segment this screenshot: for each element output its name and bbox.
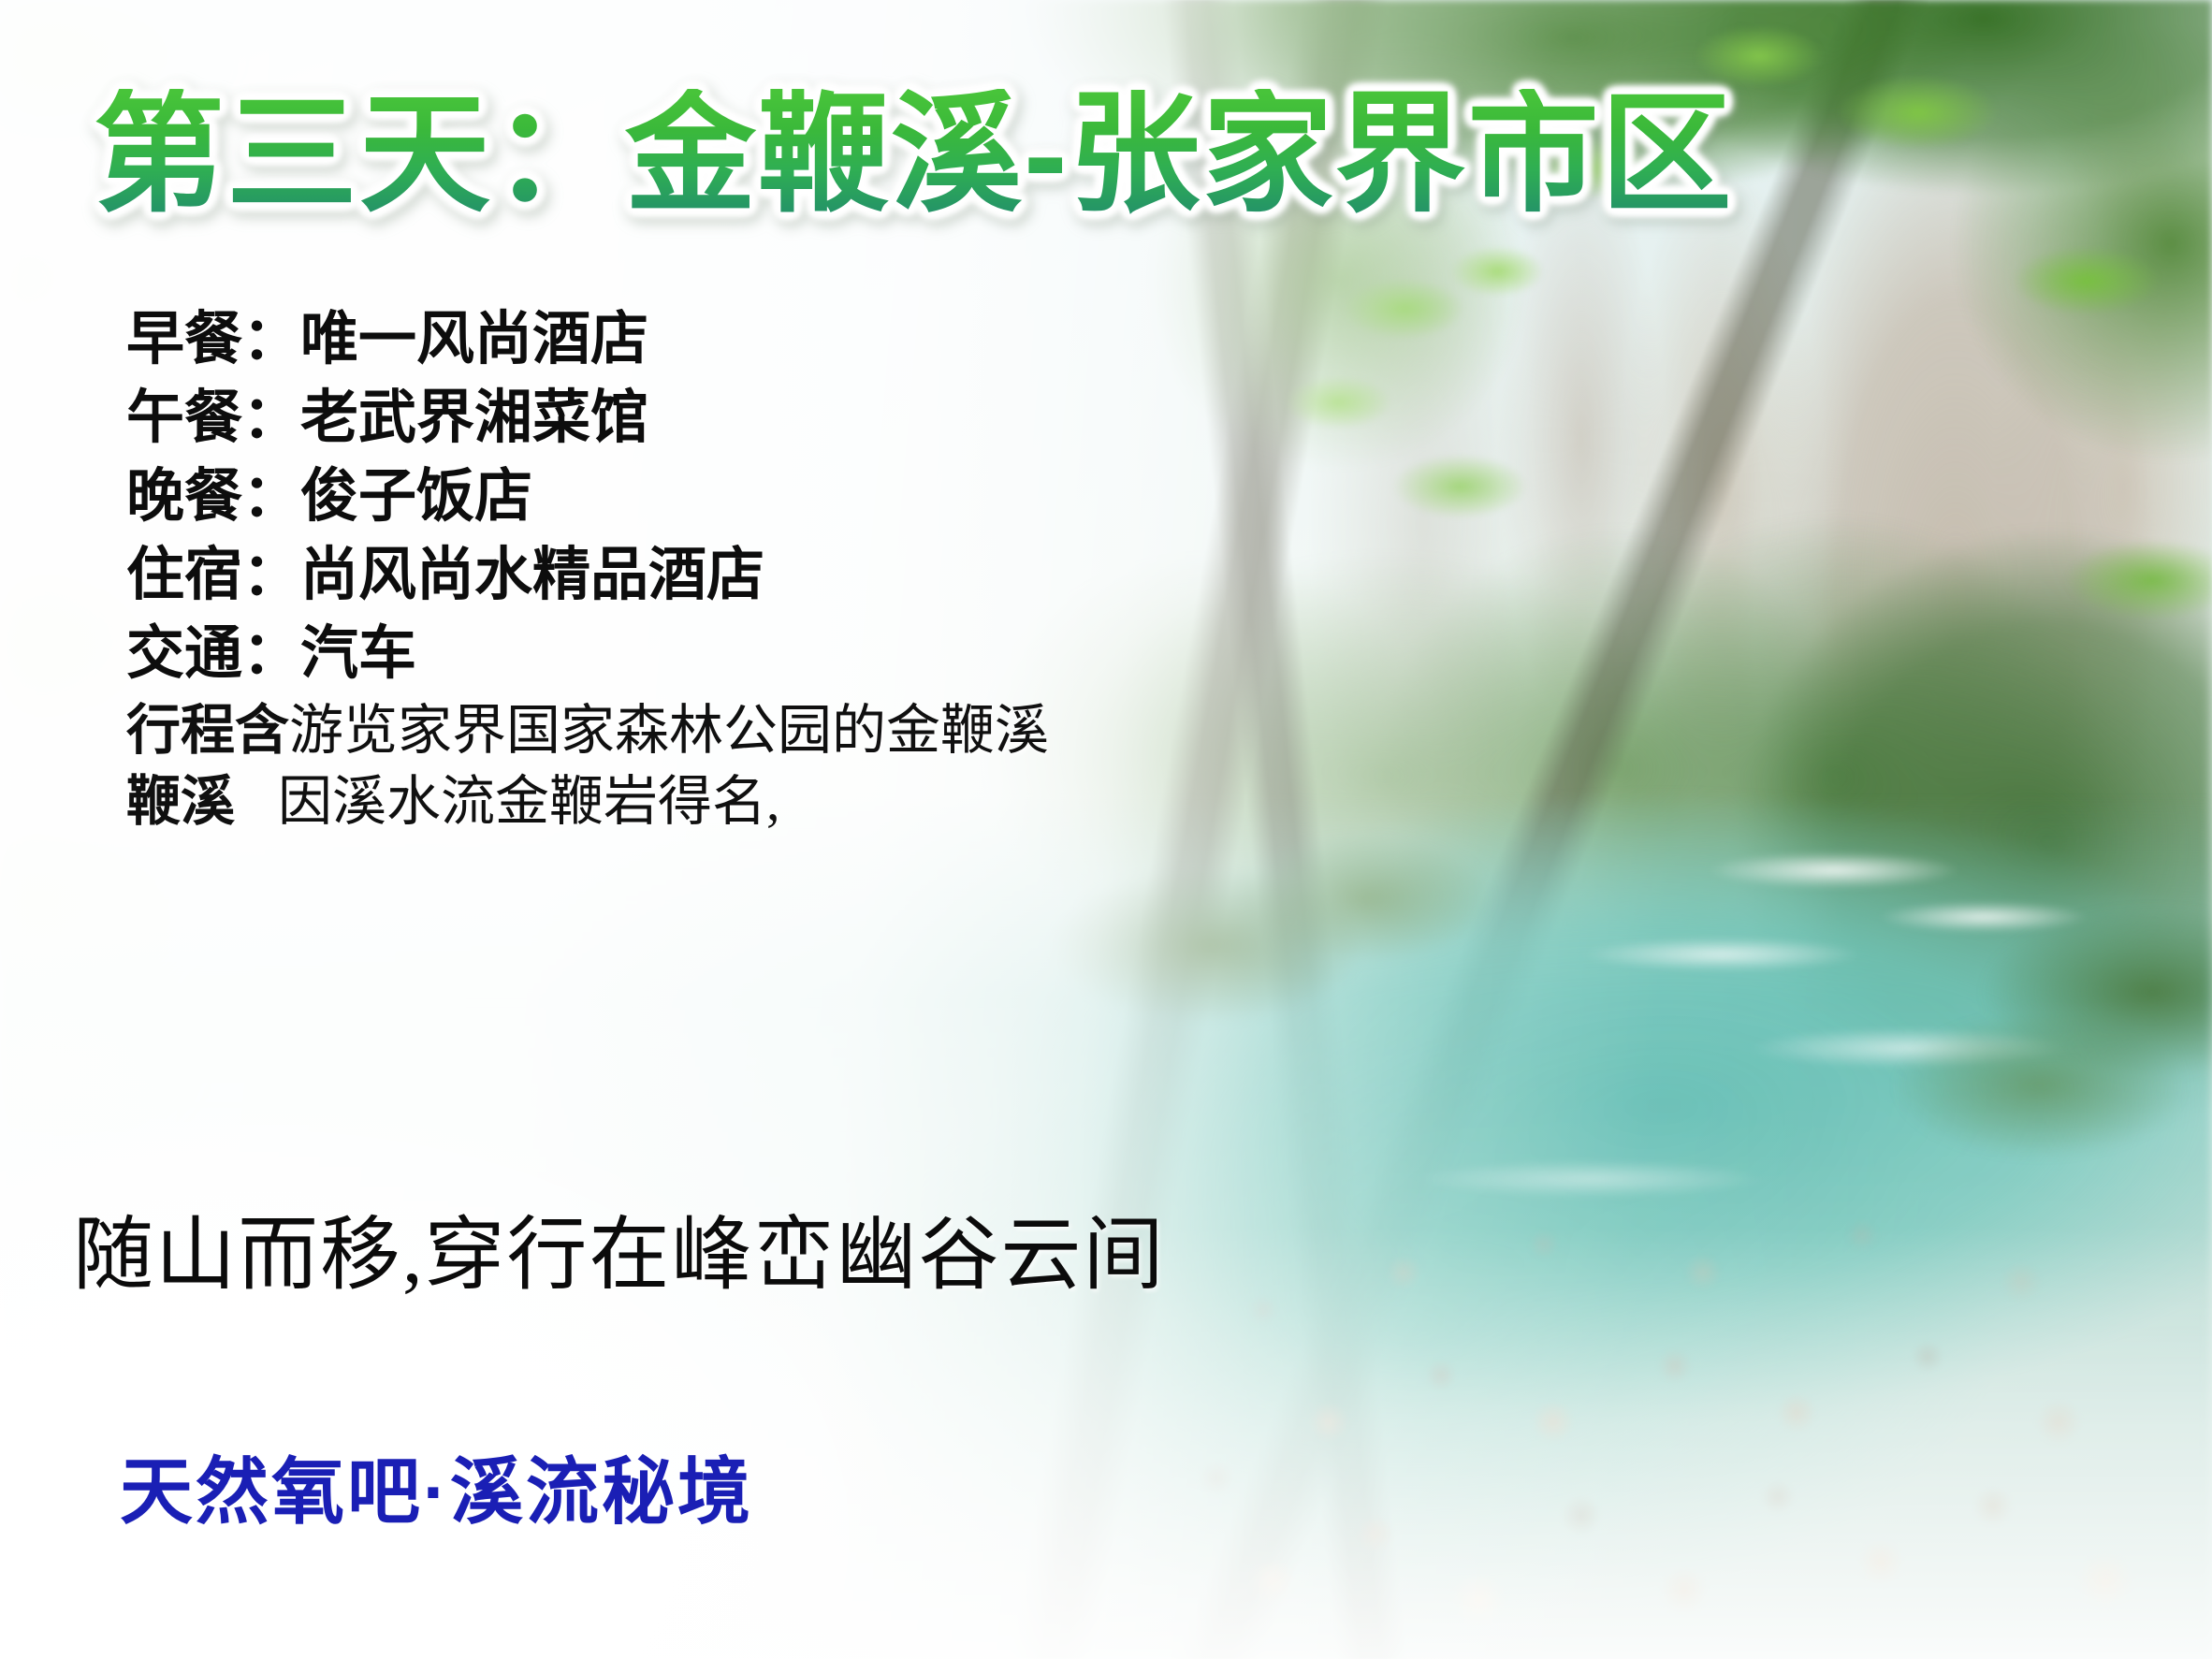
itinerary-row-breakfast: 早餐：唯一风尚酒店 [126, 307, 1343, 372]
itinerary-label-lodging: 住宿： [126, 543, 300, 607]
itinerary-includes-line: 行程含游览家界国家森林公园的金鞭溪 [126, 700, 1343, 762]
itinerary-value-transport: 汽车 [300, 621, 416, 686]
itinerary-includes-text: 游览家界国家森林公园的金鞭溪 [289, 700, 1049, 761]
itinerary-row-lodging: 住宿：尚风尚水精品酒店 [126, 543, 1343, 608]
itinerary-label-breakfast: 早餐： [126, 307, 300, 371]
poster-title: 第三天：金鞭溪-张家界市区 [94, 89, 1734, 220]
poster-content: 第三天：金鞭溪-张家界市区 早餐：唯一风尚酒店 午餐：老武界湘菜馆 晚餐：俊子饭… [0, 0, 2212, 1659]
itinerary-list: 早餐：唯一风尚酒店 午餐：老武界湘菜馆 晚餐：俊子饭店 住宿：尚风尚水精品酒店 … [126, 307, 1343, 832]
itinerary-includes-label: 行程含 [126, 700, 289, 761]
itinerary-row-lunch: 午餐：老武界湘菜馆 [126, 386, 1343, 451]
poem-line: 随山而移,穿行在峰峦幽谷云间 [73, 1215, 1166, 1295]
stream-origin-text: 因溪水流金鞭岩得名, [278, 771, 780, 832]
poster-tagline: 天然氧吧·溪流秘境 [120, 1455, 753, 1528]
itinerary-value-lunch: 老武界湘菜馆 [300, 386, 648, 450]
itinerary-label-dinner: 晚餐： [126, 464, 300, 529]
itinerary-label-transport: 交通： [126, 621, 300, 686]
itinerary-value-lodging: 尚风尚水精品酒店 [300, 543, 764, 607]
itinerary-row-dinner: 晚餐：俊子饭店 [126, 464, 1343, 530]
stream-origin-line: 鞭溪因溪水流金鞭岩得名, [126, 771, 1343, 833]
itinerary-row-transport: 交通：汽车 [126, 621, 1343, 687]
stream-origin-label: 鞭溪 [126, 771, 235, 832]
poster-canvas: 第三天：金鞭溪-张家界市区 早餐：唯一风尚酒店 午餐：老武界湘菜馆 晚餐：俊子饭… [0, 0, 2212, 1659]
itinerary-value-breakfast: 唯一风尚酒店 [300, 307, 648, 371]
itinerary-value-dinner: 俊子饭店 [300, 464, 532, 529]
itinerary-label-lunch: 午餐： [126, 386, 300, 450]
